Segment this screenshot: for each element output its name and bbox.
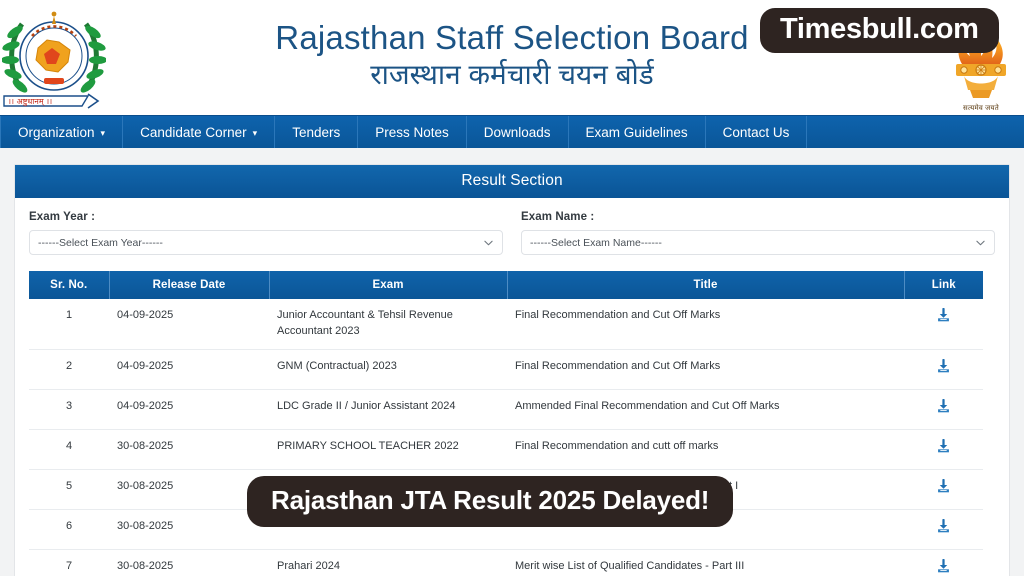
- cell-sr-no: 6: [29, 509, 109, 549]
- column-header-link: Link: [904, 271, 983, 299]
- timesbull-watermark-badge: Timesbull.com: [760, 8, 999, 53]
- cell-title: Merit wise List of Qualified Candidates …: [507, 549, 904, 576]
- exam-name-filter: Exam Name : ------Select Exam Name------: [521, 211, 995, 255]
- table-row[interactable]: 3 04-09-2025 LDC Grade II / Junior Assis…: [29, 389, 983, 429]
- cell-exam: Prahari 2024: [269, 549, 507, 576]
- column-header-exam: Exam: [269, 271, 507, 299]
- ashoka-caption: सत्यमेव जयते: [942, 104, 1020, 113]
- cell-link[interactable]: [904, 299, 983, 349]
- exam-name-select[interactable]: ------Select Exam Name------: [521, 230, 995, 255]
- nav-item-contact-us[interactable]: Contact Us: [706, 116, 808, 148]
- download-icon[interactable]: [936, 308, 951, 323]
- nav-label: Downloads: [484, 125, 551, 140]
- cell-link[interactable]: [904, 549, 983, 576]
- download-icon[interactable]: [936, 439, 951, 454]
- page-root: ।। अष्टुधानम् ।। Rajasthan Staff Selecti…: [0, 0, 1024, 576]
- result-table: Sr. No. Release Date Exam Title Link 1 0…: [29, 271, 983, 576]
- cell-link[interactable]: [904, 509, 983, 549]
- exam-year-label: Exam Year :: [29, 211, 503, 223]
- nav-label: Candidate Corner: [140, 125, 247, 140]
- cell-link[interactable]: [904, 469, 983, 509]
- exam-year-filter: Exam Year : ------Select Exam Year------: [29, 211, 503, 255]
- nav-label: Press Notes: [375, 125, 449, 140]
- column-header-title: Title: [507, 271, 904, 299]
- chevron-down-icon: ▾: [253, 129, 258, 138]
- main-navigation: Organization ▾ Candidate Corner ▾ Tender…: [0, 115, 1024, 148]
- chevron-down-icon: ▾: [101, 129, 106, 138]
- cell-release-date: 30-08-2025: [109, 469, 269, 509]
- cell-release-date: 30-08-2025: [109, 549, 269, 576]
- svg-text:।। अष्टुधानम् ।।: ।। अष्टुधानम् ।।: [8, 97, 52, 107]
- header-titles: Rajasthan Staff Selection Board राजस्थान…: [275, 20, 748, 90]
- cell-title: Final Recommendation and cutt off marks: [507, 429, 904, 469]
- exam-name-selected-value: ------Select Exam Name------: [530, 237, 662, 249]
- nav-label: Contact Us: [723, 125, 790, 140]
- column-header-release-date: Release Date: [109, 271, 269, 299]
- nav-item-press-notes[interactable]: Press Notes: [358, 116, 467, 148]
- exam-year-selected-value: ------Select Exam Year------: [38, 237, 163, 249]
- table-row[interactable]: 7 30-08-2025 Prahari 2024 Merit wise Lis…: [29, 549, 983, 576]
- download-icon[interactable]: [936, 559, 951, 574]
- cell-title: Ammended Final Recommendation and Cut Of…: [507, 389, 904, 429]
- cell-sr-no: 7: [29, 549, 109, 576]
- nav-item-candidate-corner[interactable]: Candidate Corner ▾: [123, 116, 275, 148]
- cell-release-date: 30-08-2025: [109, 429, 269, 469]
- site-header: ।। अष्टुधानम् ।। Rajasthan Staff Selecti…: [0, 0, 1024, 115]
- headline-overlay-banner: Rajasthan JTA Result 2025 Delayed!: [247, 476, 733, 527]
- column-header-sr-no: Sr. No.: [29, 271, 109, 299]
- table-row[interactable]: 1 04-09-2025 Junior Accountant & Tehsil …: [29, 299, 983, 349]
- result-table-body: 1 04-09-2025 Junior Accountant & Tehsil …: [29, 299, 983, 576]
- cell-exam: LDC Grade II / Junior Assistant 2024: [269, 389, 507, 429]
- cell-sr-no: 5: [29, 469, 109, 509]
- cell-sr-no: 3: [29, 389, 109, 429]
- filter-row: Exam Year : ------Select Exam Year------…: [15, 198, 1009, 271]
- chevron-down-icon: [484, 238, 493, 247]
- nav-item-exam-guidelines[interactable]: Exam Guidelines: [569, 116, 706, 148]
- cell-exam: Junior Accountant & Tehsil Revenue Accou…: [269, 299, 507, 349]
- download-icon[interactable]: [936, 399, 951, 414]
- exam-year-select[interactable]: ------Select Exam Year------: [29, 230, 503, 255]
- result-table-wrapper: Sr. No. Release Date Exam Title Link 1 0…: [15, 271, 1009, 576]
- chevron-down-icon: [976, 238, 985, 247]
- cell-release-date: 04-09-2025: [109, 299, 269, 349]
- cell-exam: GNM (Contractual) 2023: [269, 349, 507, 389]
- download-icon[interactable]: [936, 359, 951, 374]
- cell-link[interactable]: [904, 389, 983, 429]
- nav-item-organization[interactable]: Organization ▾: [0, 116, 123, 148]
- nav-label: Exam Guidelines: [586, 125, 688, 140]
- cell-sr-no: 4: [29, 429, 109, 469]
- result-section-heading: Result Section: [15, 165, 1009, 198]
- download-icon[interactable]: [936, 479, 951, 494]
- table-row[interactable]: 2 04-09-2025 GNM (Contractual) 2023 Fina…: [29, 349, 983, 389]
- cell-release-date: 30-08-2025: [109, 509, 269, 549]
- nav-item-tenders[interactable]: Tenders: [275, 116, 358, 148]
- cell-sr-no: 1: [29, 299, 109, 349]
- result-table-head: Sr. No. Release Date Exam Title Link: [29, 271, 983, 299]
- site-title-hindi: राजस्थान कर्मचारी चयन बोर्ड: [275, 59, 748, 90]
- cell-release-date: 04-09-2025: [109, 349, 269, 389]
- nav-item-downloads[interactable]: Downloads: [467, 116, 569, 148]
- nav-label: Organization: [18, 125, 95, 140]
- cell-title: Final Recommendation and Cut Off Marks: [507, 299, 904, 349]
- cell-release-date: 04-09-2025: [109, 389, 269, 429]
- cell-sr-no: 2: [29, 349, 109, 389]
- cell-title: Final Recommendation and Cut Off Marks: [507, 349, 904, 389]
- nav-label: Tenders: [292, 125, 340, 140]
- download-icon[interactable]: [936, 519, 951, 534]
- rsmssb-emblem: ।। अष्टुधानम् ।।: [2, 2, 106, 112]
- site-title-english: Rajasthan Staff Selection Board: [275, 20, 748, 57]
- nav-empty-space: [807, 116, 1024, 148]
- table-header-row: Sr. No. Release Date Exam Title Link: [29, 271, 983, 299]
- exam-name-label: Exam Name :: [521, 211, 995, 223]
- cell-link[interactable]: [904, 349, 983, 389]
- cell-link[interactable]: [904, 429, 983, 469]
- cell-exam: PRIMARY SCHOOL TEACHER 2022: [269, 429, 507, 469]
- table-row[interactable]: 4 30-08-2025 PRIMARY SCHOOL TEACHER 2022…: [29, 429, 983, 469]
